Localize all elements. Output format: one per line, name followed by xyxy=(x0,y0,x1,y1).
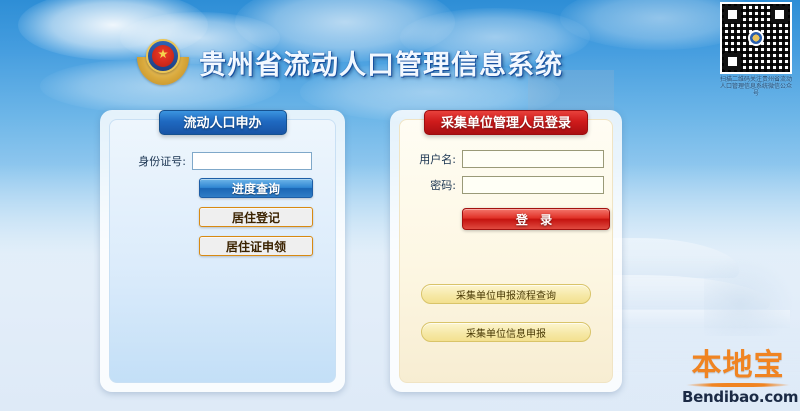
declaration-process-query-button[interactable]: 采集单位申报流程查询 xyxy=(421,284,591,304)
left-panel-form: 身份证号: 进度查询 居住登记 居住证申领 xyxy=(110,152,335,265)
login-page: 贵州省流动人口管理信息系统 扫描二维码关注贵州省流动人口管理信息系统微信公众号 … xyxy=(0,0,800,411)
password-input[interactable] xyxy=(462,176,604,194)
watermark-cn-text: 本地宝 xyxy=(682,350,794,382)
public-service-panel: 流动人口申办 身份证号: 进度查询 居住登记 居住证申领 xyxy=(100,110,345,392)
password-label: 密码: xyxy=(400,177,462,193)
page-header: 贵州省流动人口管理信息系统 xyxy=(0,32,700,92)
page-title: 贵州省流动人口管理信息系统 xyxy=(199,43,563,82)
residence-permit-apply-button[interactable]: 居住证申领 xyxy=(199,236,313,256)
watermark-swoosh xyxy=(686,383,790,387)
wechat-qr-block[interactable]: 扫描二维码关注贵州省流动人口管理信息系统微信公众号 xyxy=(718,2,794,97)
qr-code-icon[interactable] xyxy=(720,2,792,74)
qr-caption: 扫描二维码关注贵州省流动人口管理信息系统微信公众号 xyxy=(718,76,794,97)
unit-info-declaration-button[interactable]: 采集单位信息申报 xyxy=(421,322,591,342)
login-form: 用户名: 密码: 登 录 xyxy=(400,150,612,230)
secondary-links: 采集单位申报流程查询 采集单位信息申报 xyxy=(400,284,612,360)
id-card-input[interactable] xyxy=(192,152,312,170)
username-input[interactable] xyxy=(462,150,604,168)
residence-registration-button[interactable]: 居住登记 xyxy=(199,207,313,227)
login-button[interactable]: 登 录 xyxy=(462,208,610,230)
bendibao-watermark: 本地宝 Bendibao.com xyxy=(682,350,794,405)
username-row: 用户名: xyxy=(400,150,612,168)
right-panel-tab-header[interactable]: 采集单位管理人员登录 xyxy=(424,110,588,135)
username-label: 用户名: xyxy=(400,151,462,167)
progress-query-button[interactable]: 进度查询 xyxy=(199,178,313,198)
police-badge-icon xyxy=(137,37,189,87)
left-panel-tab-header[interactable]: 流动人口申办 xyxy=(159,110,287,135)
watermark-en-text: Bendibao.com xyxy=(682,389,794,405)
admin-login-panel: 采集单位管理人员登录 用户名: 密码: 登 录 采集单位申报流程查询 采集单位信… xyxy=(390,110,622,392)
id-card-row: 身份证号: xyxy=(110,152,335,170)
password-row: 密码: xyxy=(400,176,612,194)
id-card-label: 身份证号: xyxy=(110,153,192,169)
